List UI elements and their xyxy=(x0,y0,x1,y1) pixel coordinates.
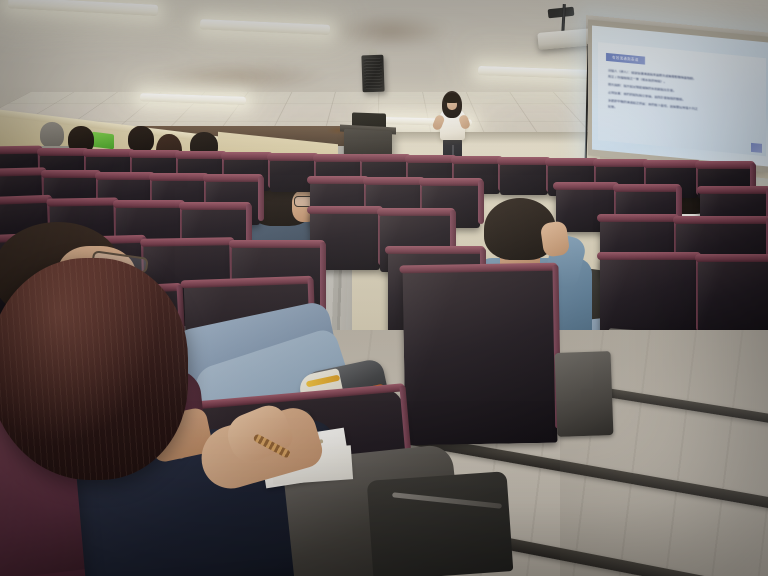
speaker-grill xyxy=(363,58,382,90)
slide-corner-accent xyxy=(751,143,762,153)
presenter xyxy=(432,93,472,163)
ceiling-stain xyxy=(150,62,330,92)
lecture-hall-photo: 有效溝通與表達 淡個人（律人）：健康促進溝通與本國教育政策推動機構面相關， 成立… xyxy=(0,0,768,576)
head xyxy=(40,122,64,148)
attendee-foreground-hair-strands xyxy=(0,258,188,480)
tablet-arm[interactable] xyxy=(555,351,614,437)
ceiling-stain xyxy=(330,14,450,48)
attendee-center-hand xyxy=(540,220,570,257)
seat xyxy=(500,161,548,195)
presentation-slide: 有效溝通與表達 淡個人（律人）：健康促進溝通與本國教育政策推動機構面相關， 成立… xyxy=(598,42,766,156)
backpack xyxy=(367,471,514,576)
green-bag-on-counter xyxy=(92,132,114,150)
projection-screen: 有效溝通與表達 淡個人（律人）：健康促進溝通與本國教育政策推動機構面相關， 成立… xyxy=(592,26,768,167)
seat xyxy=(600,256,698,338)
presenter-hair-front xyxy=(444,93,460,103)
seat xyxy=(402,267,557,446)
slide-title: 有效溝通與表達 xyxy=(606,53,645,65)
seat xyxy=(698,258,768,340)
